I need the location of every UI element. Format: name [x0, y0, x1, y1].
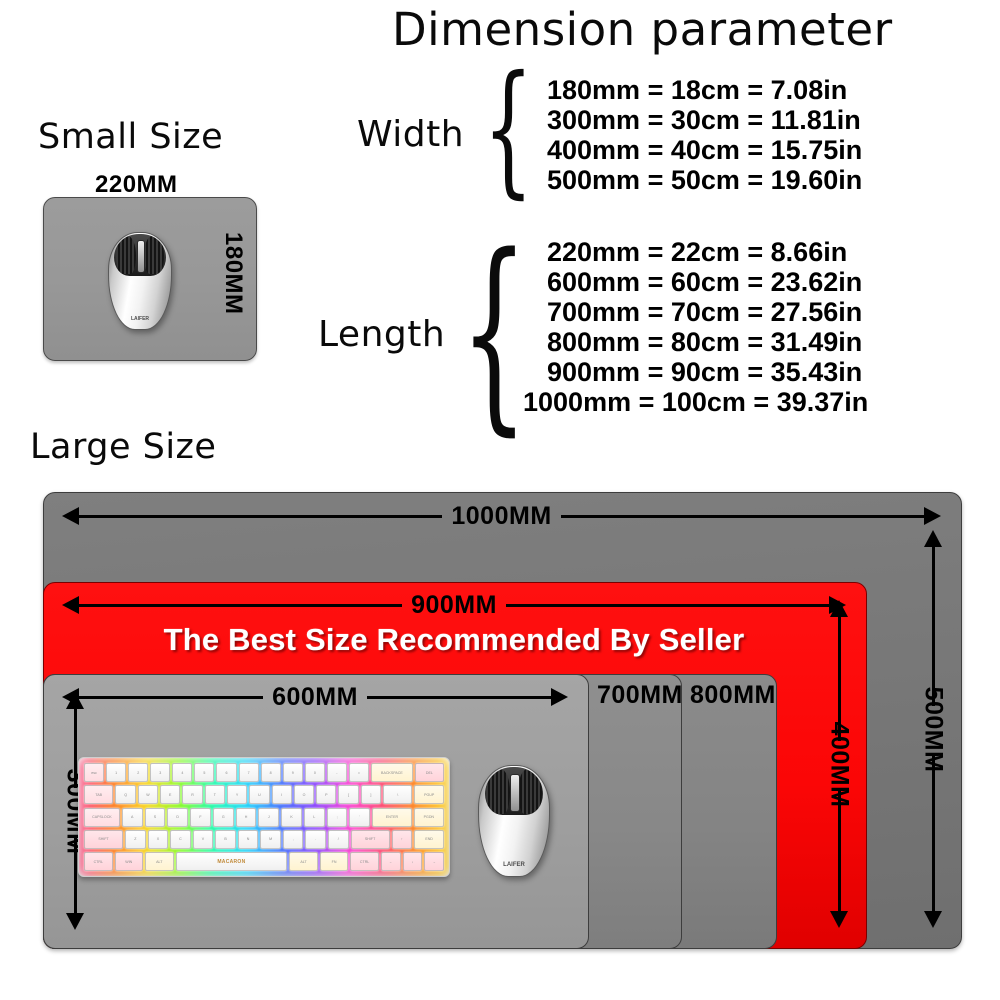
keyboard-key: PGUP [414, 785, 443, 804]
keyboard-key: 2 [128, 763, 148, 782]
mouse-body: LAIFER [108, 232, 172, 330]
conversion-row: 700mm = 70cm = 27.56in [547, 297, 868, 327]
keyboard-key: ↓ [403, 852, 423, 871]
keyboard-key: ' [349, 808, 370, 827]
recommended-size-banner: The Best Size Recommended By Seller [43, 622, 865, 658]
keyboard-key: 9 [283, 763, 303, 782]
mouse-right-button [144, 236, 165, 275]
keyboard-key: PGDN [414, 808, 444, 827]
keyboard-key: TAB [84, 785, 113, 804]
dimension-line-600mm: 600MM [62, 684, 568, 710]
keyboard-key: Z [125, 830, 146, 849]
keyboard-keys: esc1234567890-=BACKSPACEDELTABQWERTYUIOP… [84, 763, 444, 871]
keyboard-key: C [170, 830, 191, 849]
mouse-scroll-wheel [137, 240, 145, 273]
arrow-down-icon [830, 911, 848, 928]
keyboard-key: 7 [239, 763, 259, 782]
mouse-right-button [518, 769, 542, 814]
keyboard-key: ENTER [372, 808, 412, 827]
arrow-up-icon [924, 530, 942, 547]
keyboard-key: SHIFT [351, 830, 390, 849]
dimension-rule [932, 753, 935, 912]
keyboard-key: ; [327, 808, 348, 827]
keyboard-key: 8 [261, 763, 281, 782]
width-conversion-list: 180mm = 18cm = 7.08in 300mm = 30cm = 11.… [547, 75, 862, 195]
keyboard-key: Q [115, 785, 135, 804]
keyboard-key: CAPSLOCK [84, 808, 120, 827]
dimension-label: 500MM [910, 686, 957, 772]
keyboard-key: BACKSPACE [371, 763, 413, 782]
arrow-left-icon [62, 596, 79, 614]
keyboard-key: ALT [145, 852, 174, 871]
keyboard-key: 1 [106, 763, 126, 782]
mouse-illustration: LAIFER [478, 765, 548, 875]
conversion-row: 800mm = 80cm = 31.49in [547, 327, 868, 357]
keyboard-key: , [283, 830, 304, 849]
arrow-left-icon [62, 507, 79, 525]
keyboard-key: H [236, 808, 257, 827]
keyboard-key: 6 [216, 763, 236, 782]
conversion-row: 180mm = 18cm = 7.08in [547, 75, 862, 105]
mouse-brand-logo: LAIFER [131, 316, 149, 322]
keyboard-key: ALT [289, 852, 318, 871]
small-pad-width-label: 220MM [95, 171, 178, 199]
keyboard-key: / [328, 830, 349, 849]
dimension-label: 400MM [816, 721, 863, 807]
mouse-body: LAIFER [478, 765, 550, 877]
keyboard-illustration: esc1234567890-=BACKSPACEDELTABQWERTYUIOP… [78, 757, 450, 877]
keyboard-key: F [190, 808, 211, 827]
keyboard-row: CTRLWINALTMACARONALTFNCTRL←↓→ [84, 852, 444, 871]
keyboard-key: J [258, 808, 279, 827]
mouse-illustration: LAIFER [108, 232, 170, 328]
keyboard-key: CTRL [350, 852, 379, 871]
keyboard-key: Y [227, 785, 247, 804]
keyboard-key: \ [383, 785, 412, 804]
dimension-line-1000mm: 1000MM [62, 503, 941, 529]
keyboard-key: M [260, 830, 281, 849]
keyboard-key: L [304, 808, 325, 827]
keyboard-key: T [205, 785, 225, 804]
length-brace-icon: { [460, 228, 528, 437]
small-size-heading: Small Size [38, 117, 223, 157]
conversion-row: 300mm = 30cm = 11.81in [547, 105, 862, 135]
arrow-up-icon [66, 692, 84, 709]
keyboard-key: 3 [150, 763, 170, 782]
keyboard-key: I [272, 785, 292, 804]
dimension-label-800mm: 800MM [690, 681, 776, 710]
dimension-label-700mm: 700MM [597, 681, 683, 710]
keyboard-key: E [160, 785, 180, 804]
keyboard-key: [ [338, 785, 358, 804]
arrow-down-icon [924, 911, 942, 928]
keyboard-spacebar-label: MACARON [217, 859, 245, 865]
keyboard-key: ↑ [392, 830, 413, 849]
conversion-row: 900mm = 90cm = 35.43in [547, 357, 868, 387]
keyboard-key: X [148, 830, 169, 849]
keyboard-row: SHIFTZXCVBNM,./SHIFT↑END [84, 830, 444, 849]
keyboard-key: 4 [172, 763, 192, 782]
mouse-left-button [486, 769, 510, 814]
keyboard-key: B [215, 830, 236, 849]
keyboard-key: N [238, 830, 259, 849]
length-conversion-list: 220mm = 22cm = 8.66in 600mm = 60cm = 23.… [547, 237, 868, 417]
conversion-row: 400mm = 40cm = 15.75in [547, 135, 862, 165]
mouse-brand-logo: LAIFER [503, 862, 525, 868]
keyboard-key: V [193, 830, 214, 849]
dimension-rule [79, 515, 442, 518]
keyboard-row: TABQWERTYUIOP[]\PGUP [84, 785, 444, 804]
keyboard-row: esc1234567890-=BACKSPACEDEL [84, 763, 444, 782]
keyboard-key: DEL [415, 763, 444, 782]
keyboard-key: W [138, 785, 158, 804]
large-size-heading: Large Size [30, 427, 216, 467]
small-pad-height-label: 180MM [219, 232, 247, 315]
dimension-label: 1000MM [442, 502, 560, 531]
arrow-down-icon [66, 913, 84, 930]
keyboard-key: A [122, 808, 143, 827]
dimension-rule [79, 604, 402, 607]
keyboard-key: esc [84, 763, 104, 782]
conversion-row: 600mm = 60cm = 23.62in [547, 267, 868, 297]
mouse-top-shell [114, 234, 166, 276]
keyboard-key: SHIFT [84, 830, 123, 849]
dimension-rule [561, 515, 924, 518]
keyboard-spacebar: MACARON [176, 852, 288, 871]
keyboard-key: - [327, 763, 347, 782]
dimension-label: 600MM [263, 683, 367, 712]
arrow-right-icon [551, 688, 568, 706]
keyboard-key: K [281, 808, 302, 827]
keyboard-key: . [305, 830, 326, 849]
conversion-row: 500mm = 50cm = 19.60in [547, 165, 862, 195]
mouse-scroll-wheel [510, 774, 519, 812]
keyboard-key: 0 [305, 763, 325, 782]
keyboard-key: ← [381, 852, 401, 871]
keyboard-key: S [145, 808, 166, 827]
keyboard-key: = [349, 763, 369, 782]
dimension-rule [506, 604, 829, 607]
keyboard-key: U [249, 785, 269, 804]
keyboard-key: G [213, 808, 234, 827]
dimension-line-500mm: 500MM [920, 530, 946, 928]
keyboard-key: R [182, 785, 202, 804]
keyboard-key: O [294, 785, 314, 804]
dimension-rule [932, 547, 935, 706]
keyboard-key: D [167, 808, 188, 827]
keyboard-key: ] [361, 785, 381, 804]
length-group-label: Length [318, 315, 445, 355]
dimension-label: 900MM [402, 591, 506, 620]
keyboard-key: END [414, 830, 444, 849]
mouse-left-button [116, 236, 137, 275]
conversion-row: 220mm = 22cm = 8.66in [547, 237, 868, 267]
mouse-top-shell [485, 767, 544, 815]
keyboard-key: CTRL [84, 852, 113, 871]
page-title: Dimension parameter [392, 4, 893, 56]
conversion-row: 1000mm = 100cm = 39.37in [523, 387, 868, 417]
keyboard-key: → [424, 852, 444, 871]
dimension-rule [79, 696, 263, 699]
keyboard-key: 5 [194, 763, 214, 782]
keyboard-row: CAPSLOCKASDFGHJKL;'ENTERPGDN [84, 808, 444, 827]
dimension-rule [367, 696, 551, 699]
keyboard-key: FN [320, 852, 349, 871]
keyboard-key: WIN [115, 852, 144, 871]
width-group-label: Width [357, 115, 464, 155]
arrow-up-icon [830, 600, 848, 617]
arrow-right-icon [924, 507, 941, 525]
keyboard-key: P [316, 785, 336, 804]
dimension-line-900mm: 900MM [62, 592, 846, 618]
width-brace-icon: { [483, 58, 533, 201]
